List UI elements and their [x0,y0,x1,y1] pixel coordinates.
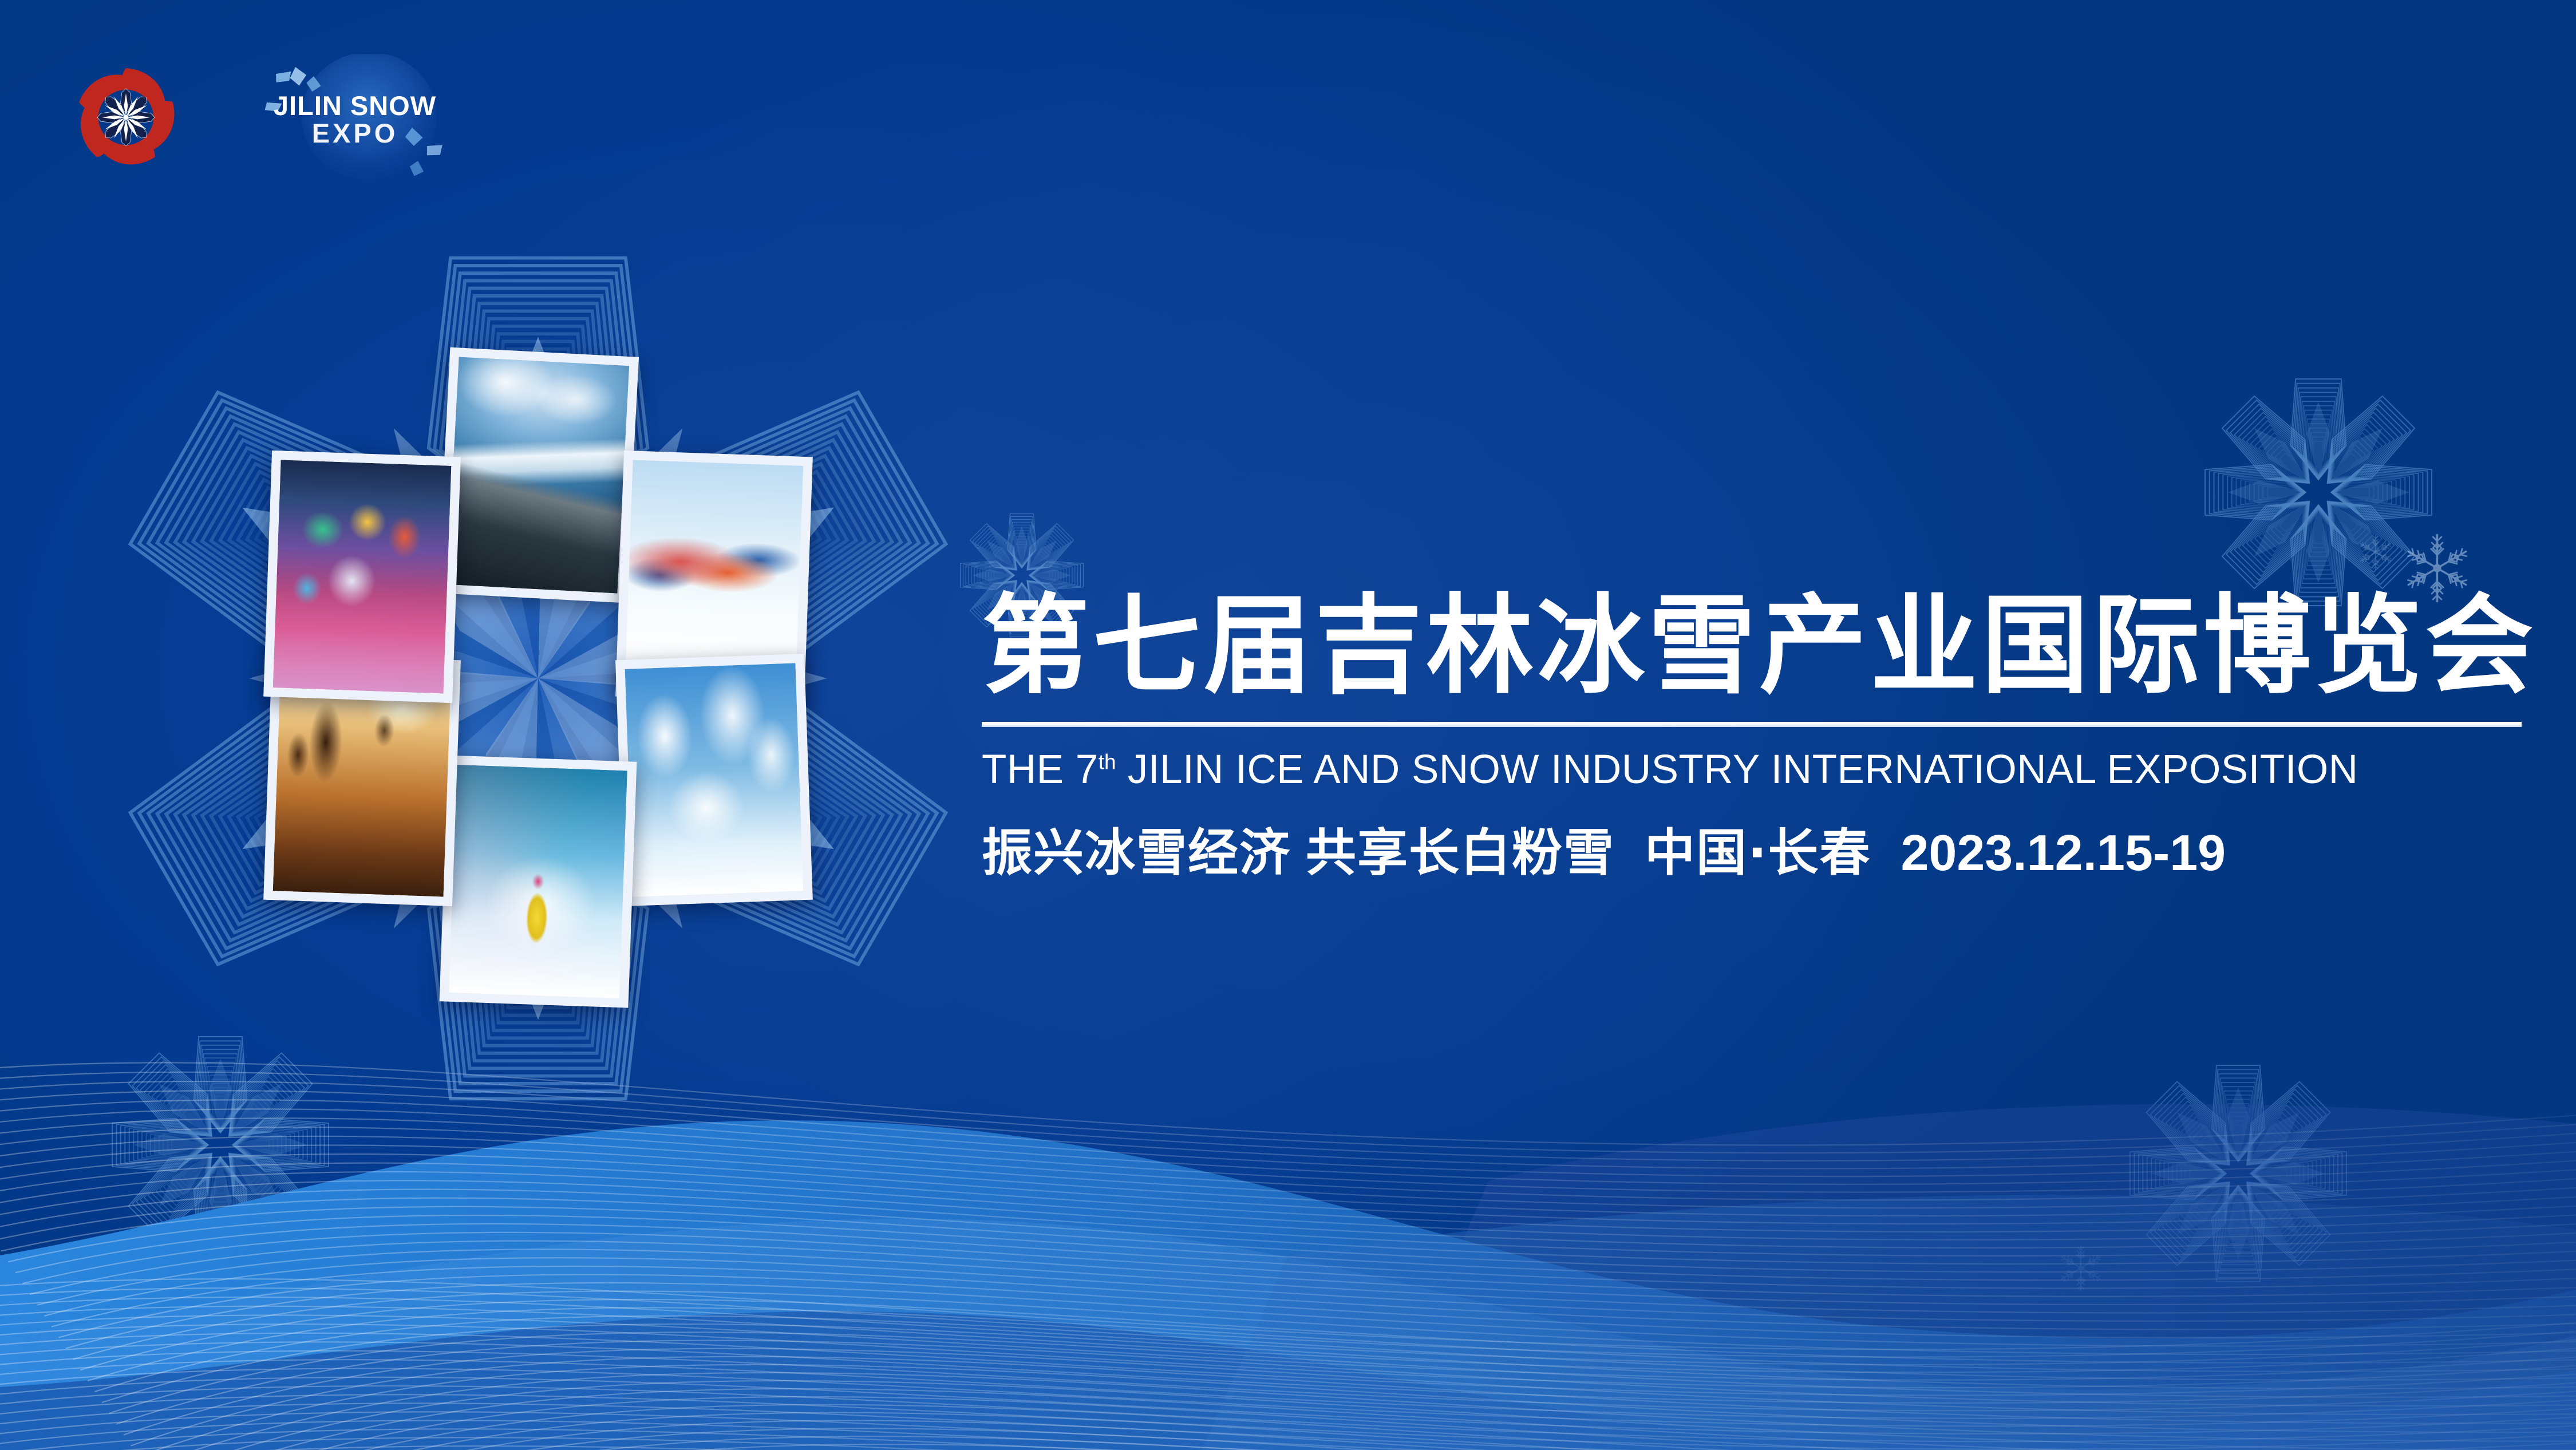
subtitle-prefix: THE 7 [982,747,1099,792]
banner-canvas: JILIN SNOW EXPO [0,0,2576,1450]
subtitle-rest: JILIN ICE AND SNOW INDUSTRY INTERNATIONA… [1116,747,2358,792]
expo-logo[interactable]: JILIN SNOW EXPO [240,54,469,180]
photo-tile [440,755,637,1008]
subtitle-ordinal: th [1099,750,1116,773]
collage-photos [100,240,976,1116]
expo-logo-line2: EXPO [312,120,398,147]
photo-tile [437,347,639,603]
page-title: 第七届吉林冰雪产业国际博览会 [982,592,2527,700]
tagline-date: 2023.12.15-19 [1901,824,2226,881]
tagline-part2: 共享长白粉雪 [1306,823,1615,882]
tagline-part1: 振兴冰雪经济 [982,823,1291,882]
snowflake-photo-collage [100,240,976,1116]
subtitle-english: THE 7th JILIN ICE AND SNOW INDUSTRY INTE… [982,746,2527,793]
org-logo[interactable] [69,60,183,175]
snowflake-crystal-icon [2356,532,2396,572]
tagline-location: 中国·长春 [1645,823,1871,882]
expo-logo-line1: JILIN SNOW [274,92,436,120]
tagline: 振兴冰雪经济共享长白粉雪中国·长春2023.12.15-19 [982,812,2527,885]
photo-tile [615,654,813,906]
title-block: 第七届吉林冰雪产业国际博览会 THE 7th JILIN ICE AND SNO… [982,592,2527,885]
photo-tile [263,451,461,703]
header-logos: JILIN SNOW EXPO [69,54,469,180]
title-divider [982,722,2522,727]
